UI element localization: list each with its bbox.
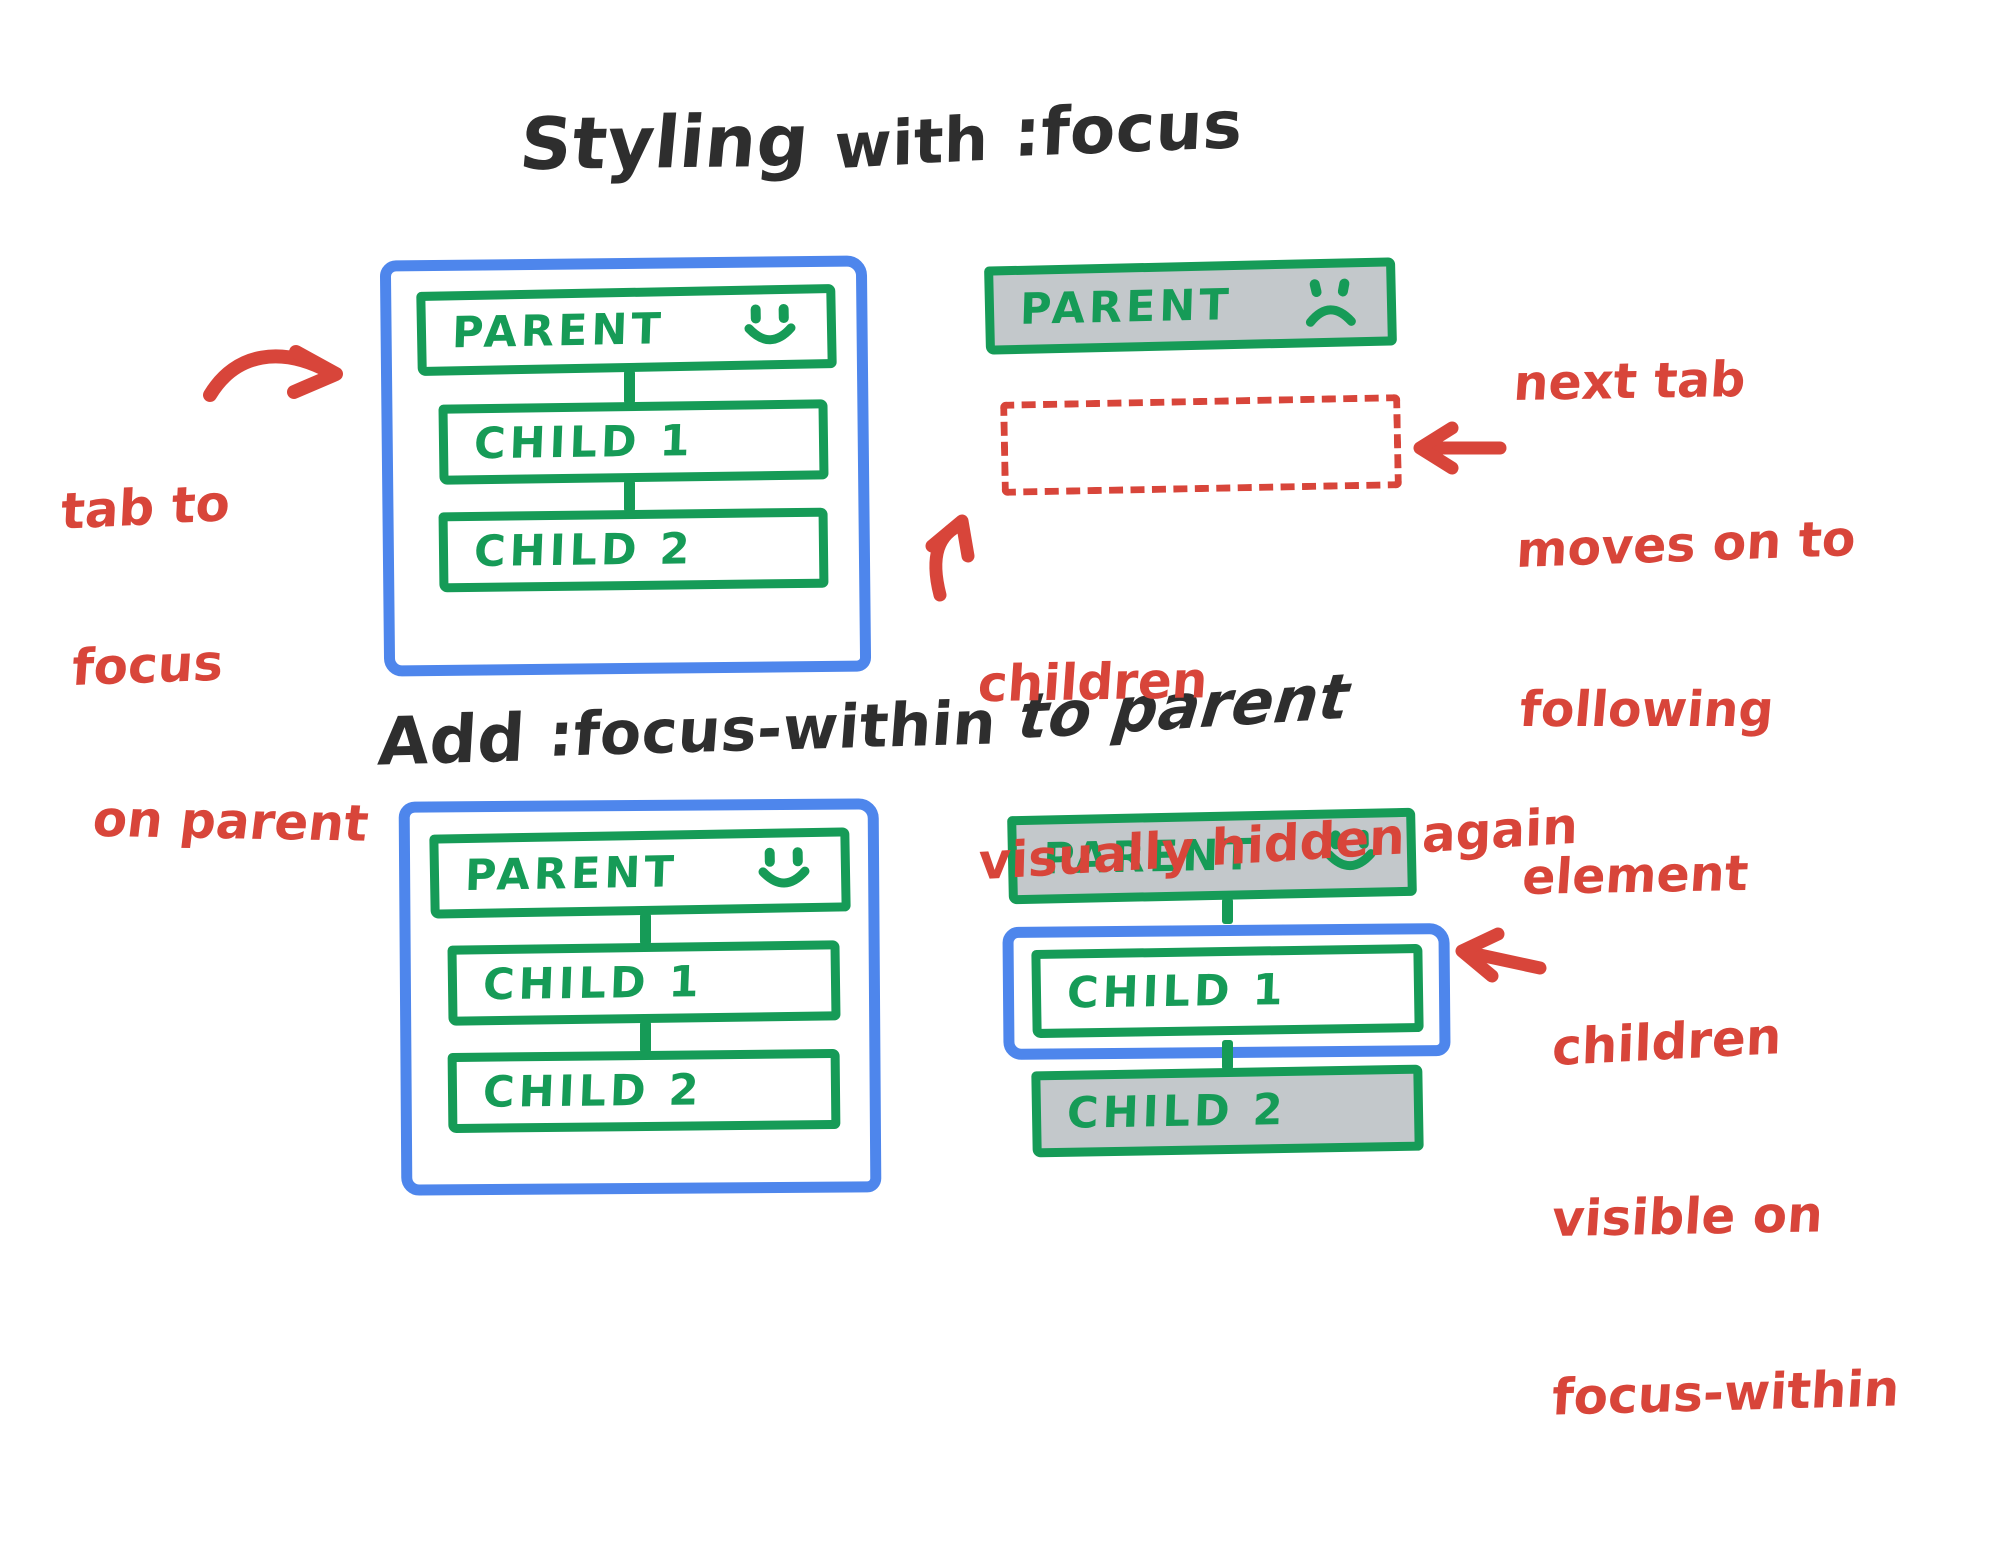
top-left-child2-box[interactable]: CHILD 2 [439, 508, 829, 593]
top-left-child2-label: CHILD 2 [473, 524, 695, 577]
top-left-child1-box[interactable]: CHILD 1 [438, 399, 828, 484]
connector-parent-child1-bottom-left [640, 913, 651, 945]
bottom-left-child1-label: CHILD 1 [482, 957, 703, 1010]
subheading-word-focus-within: :focus-within [546, 688, 999, 771]
top-left-parent-label: PARENT [451, 304, 665, 358]
whiteboard-canvas: Styling with :focus Add :focus-within to… [0, 0, 1999, 1397]
bottom-left-child2-box[interactable]: CHILD 2 [448, 1049, 841, 1133]
connector-parent-child1-top-left [624, 370, 635, 404]
subheading-word-add: Add [376, 699, 528, 780]
annotation-visible-line2: visible on [1550, 1184, 1902, 1249]
title-word-styling: Styling [516, 99, 813, 187]
top-left-parent-box[interactable]: PARENT [416, 284, 837, 376]
top-right-parent-box[interactable]: PARENT [984, 257, 1397, 354]
bottom-right-child2-box[interactable]: CHILD 2 [1031, 1065, 1423, 1158]
hidden-children-placeholder [1000, 394, 1402, 496]
annotation-tab-line2: focus [70, 632, 358, 695]
arrow-next-tab-to-dashed-box [1420, 428, 1500, 468]
page-title: Styling with :focus [519, 78, 1245, 190]
annotation-hidden-line2: visually hidden again [978, 799, 1579, 891]
connector-child1-child2-bottom-left [640, 1021, 651, 1053]
connector-child1-child2-bottom-right [1222, 1040, 1233, 1070]
bottom-left-parent-box[interactable]: PARENT [429, 827, 850, 918]
arrow-children-hidden-hook [932, 521, 968, 595]
bottom-left-child1-box[interactable]: CHILD 1 [447, 940, 840, 1025]
title-word-with: with [834, 101, 989, 183]
annotation-visible-line3: focus-within [1550, 1359, 1901, 1427]
top-right-parent-label: PARENT [1019, 280, 1233, 335]
annotation-tab-line1: tab to [60, 471, 347, 539]
sad-face-icon [1298, 276, 1361, 329]
connector-child1-child2-top-left [624, 480, 635, 512]
bottom-left-child2-label: CHILD 2 [482, 1065, 704, 1117]
annotation-visible-line1: children [1551, 1001, 1900, 1078]
bottom-left-parent-label: PARENT [464, 847, 678, 901]
annotation-children-visible: children visible on focus-within [1552, 892, 1899, 1541]
happy-face-icon [738, 301, 801, 354]
annotation-hidden-line1: children [976, 647, 1580, 713]
annotation-children-hidden: children visually hidden again [978, 542, 1578, 982]
title-word-focus: :focus [1013, 86, 1245, 172]
happy-face-icon [753, 844, 816, 897]
top-left-child1-label: CHILD 1 [473, 416, 694, 469]
annotation-tab-line3: on parent [90, 793, 371, 851]
annotation-nexttab-line1: next tab [1512, 351, 1855, 412]
annotation-tab-to-focus: tab to focus on parent [52, 363, 377, 964]
bottom-right-child2-label: CHILD 2 [1066, 1085, 1287, 1139]
